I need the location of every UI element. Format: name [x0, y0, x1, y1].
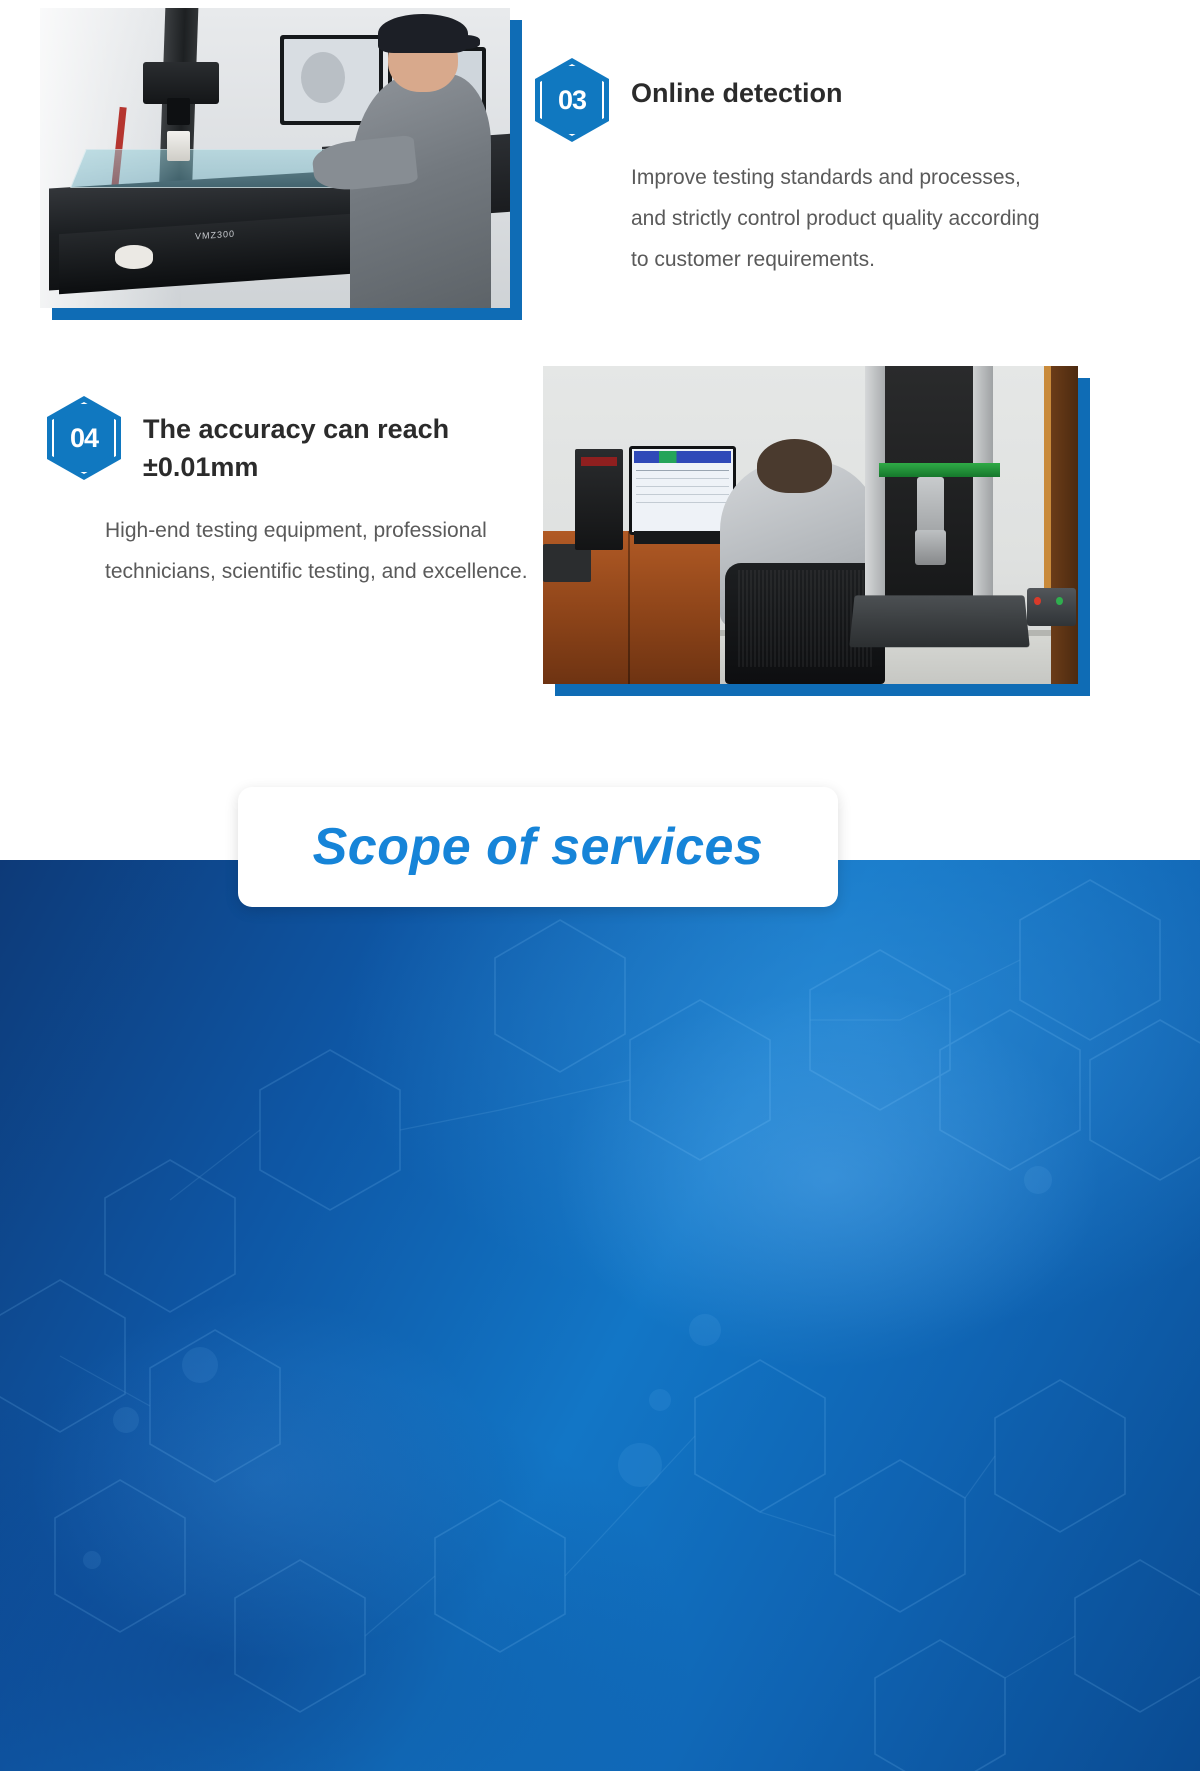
scope-of-services-section: 01 CNC processing of engineering plastic…: [0, 860, 1200, 1771]
photo-scene-background: [543, 366, 1078, 684]
scope-title: Scope of services: [313, 817, 764, 877]
hexagon-badge-icon: 04: [47, 396, 121, 480]
testing-capabilities-section: VMZ300 03 Online detection: [0, 0, 1200, 860]
feature-block-online-detection: 03 Online detection Improve testing stan…: [535, 58, 1055, 281]
sample-part: [167, 131, 191, 161]
background-glow-top: [552, 988, 1104, 1371]
photo-scene-background: VMZ300: [40, 8, 510, 308]
scope-title-card: Scope of services: [238, 787, 838, 907]
hexagon-number: 03: [535, 58, 609, 142]
technician-head: [757, 439, 832, 493]
machine-grip-lower: [915, 530, 946, 565]
machine-control-panel: [1027, 588, 1076, 626]
photo-image: VMZ300: [40, 8, 510, 308]
feature-body-text: High-end testing equipment, professional…: [47, 511, 547, 593]
keyboard: [634, 531, 730, 544]
optical-measuring-machine-photo: VMZ300: [40, 8, 510, 308]
background-glow-bottom: [24, 1297, 504, 1661]
hexagon-number: 04: [47, 396, 121, 480]
feature-title: Online detection: [631, 58, 843, 112]
machine-column-right: [973, 366, 993, 618]
feature-body-text: Improve testing standards and processes,…: [535, 158, 1055, 281]
machine-base: [849, 596, 1030, 648]
feature-block-accuracy: 04 The accuracy can reach ±0.01mm High-e…: [47, 396, 547, 593]
machine-lens: [167, 98, 191, 125]
machine-column-left: [865, 366, 885, 618]
computer-tower: [575, 449, 623, 551]
photo-image: [543, 366, 1078, 684]
machine-roller: [115, 245, 153, 269]
feature-heading-row: 03 Online detection: [535, 58, 1055, 142]
operator-body: [350, 74, 491, 308]
tensile-testing-machine: [843, 366, 1068, 659]
hexagon-badge-icon: 03: [535, 58, 609, 142]
tensile-testing-lab-photo: [543, 366, 1078, 684]
marketing-page: VMZ300 03 Online detection: [0, 0, 1200, 1771]
machine-crosshead: [879, 463, 1000, 478]
feature-heading-row: 04 The accuracy can reach ±0.01mm: [47, 396, 547, 487]
operator-cap: [378, 14, 467, 53]
feature-title: The accuracy can reach ±0.01mm: [143, 396, 547, 487]
